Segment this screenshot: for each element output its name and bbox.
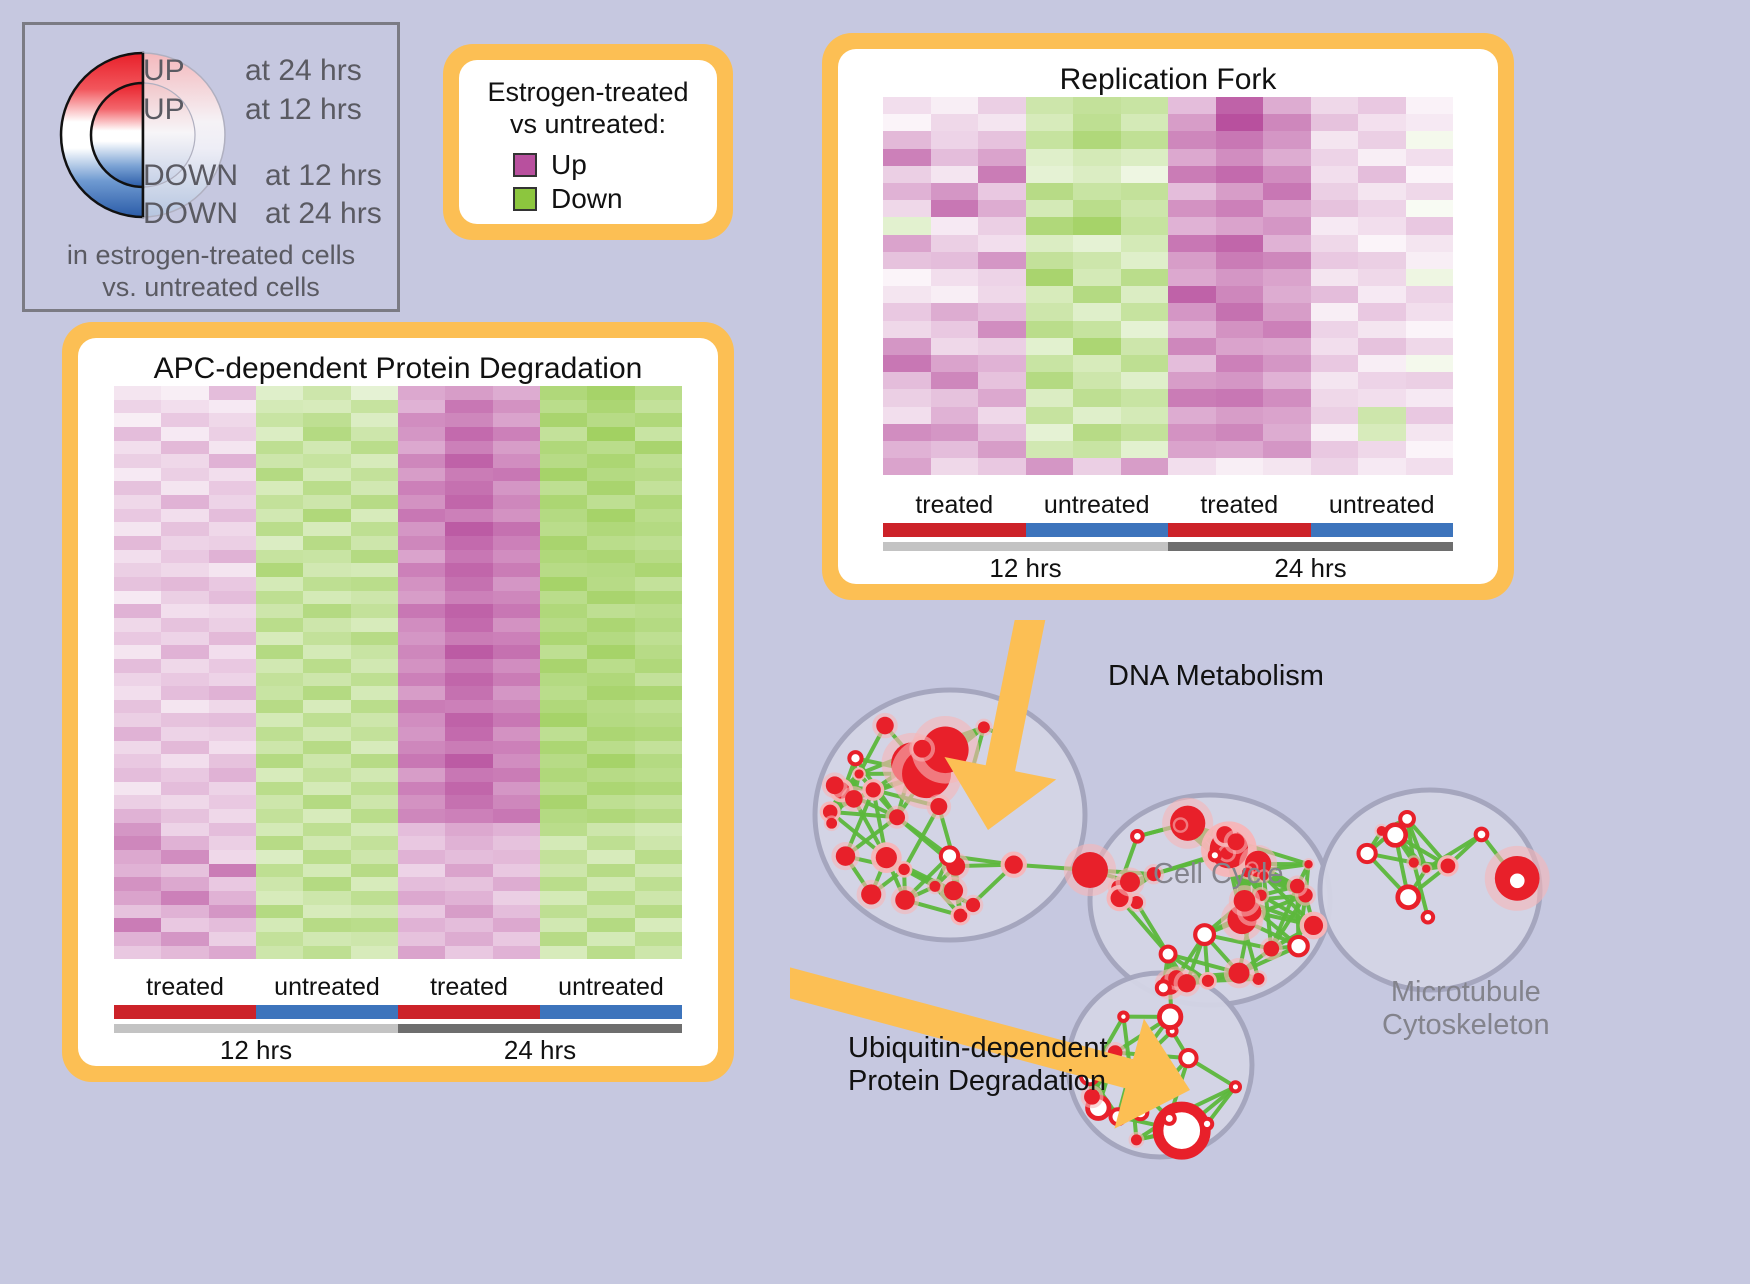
heatmap-cell — [1406, 321, 1454, 338]
heatmap-cell — [209, 768, 256, 782]
heatmap-cell — [1358, 389, 1406, 406]
heatmap-cell — [209, 850, 256, 864]
heatmap-cell — [540, 427, 587, 441]
heatmap-cell — [445, 686, 492, 700]
heatmap-cell — [1216, 269, 1264, 286]
heatmap-cell — [303, 713, 350, 727]
legend-title-line1: Estrogen-treated — [459, 76, 717, 108]
heatmap-cell — [445, 454, 492, 468]
heatmap-cell — [351, 618, 398, 632]
heatmap-cell — [635, 386, 682, 400]
heatmap-cell — [931, 338, 979, 355]
legend-title-line2: vs untreated: — [459, 108, 717, 140]
heatmap-cell — [114, 850, 161, 864]
heatmap-cell — [493, 795, 540, 809]
heatmap-cell — [587, 522, 634, 536]
heatmap-cell — [398, 632, 445, 646]
heatmap-cell — [256, 386, 303, 400]
heatmap-cell — [587, 741, 634, 755]
heatmap-cell — [209, 522, 256, 536]
legend-label-up: Up — [551, 149, 587, 181]
heatmap-cell — [587, 413, 634, 427]
heatmap-cell — [303, 659, 350, 673]
legend-panel: Estrogen-treated vs untreated: Up Down — [443, 44, 733, 240]
heatmap-cell — [351, 946, 398, 960]
heatmap-cell — [1311, 183, 1359, 200]
heatmap-cell — [883, 183, 931, 200]
heatmap-cell — [1406, 235, 1454, 252]
heatmap-cell — [303, 795, 350, 809]
network-node — [1064, 844, 1116, 896]
network-node — [1398, 887, 1419, 908]
heatmap-cell — [351, 591, 398, 605]
network-node — [1001, 851, 1027, 877]
heatmap-cell — [256, 727, 303, 741]
heatmap-cell — [1216, 252, 1264, 269]
heatmap-cell — [635, 782, 682, 796]
heatmap-cell — [256, 400, 303, 414]
heatmap-cell — [303, 768, 350, 782]
heatmap-cell — [256, 891, 303, 905]
heatmap-cell — [398, 877, 445, 891]
heatmap-cell — [256, 495, 303, 509]
heatmap-cell — [493, 727, 540, 741]
heatmap-replication-fork — [883, 97, 1453, 475]
heatmap-cell — [209, 713, 256, 727]
heatmap-cell — [978, 389, 1026, 406]
heatmap-cell — [161, 686, 208, 700]
heatmap-cell — [114, 577, 161, 591]
heatmap-cell — [161, 782, 208, 796]
heatmap-cell — [493, 891, 540, 905]
heatmap-cell — [1121, 97, 1169, 114]
legend-items: Up Down — [459, 149, 717, 215]
heatmap-cell — [445, 400, 492, 414]
heatmap-cell — [351, 645, 398, 659]
heatmap-cell — [493, 782, 540, 796]
heatmap-cell — [1358, 321, 1406, 338]
heatmap-cell — [303, 932, 350, 946]
heatmap-cell — [1073, 303, 1121, 320]
color-key-dir-0: UP — [143, 54, 185, 88]
heatmap-cell — [883, 217, 931, 234]
heatmap-cell — [540, 877, 587, 891]
heatmap-cell — [209, 441, 256, 455]
heatmap-cell — [1311, 355, 1359, 372]
heatmap-cell — [445, 632, 492, 646]
heatmap-cell — [445, 754, 492, 768]
color-key-dir-3: DOWN — [143, 197, 238, 231]
heatmap-cell — [635, 550, 682, 564]
heatmap-cell — [398, 823, 445, 837]
heatmap-cell — [303, 864, 350, 878]
heatmap-cell — [540, 673, 587, 687]
heatmap-cell — [1073, 149, 1121, 166]
heatmap-cell — [978, 407, 1026, 424]
heatmap-cell — [161, 577, 208, 591]
heatmap-cell — [161, 386, 208, 400]
heatmap-cell — [587, 946, 634, 960]
heatmap-cell — [161, 727, 208, 741]
heatmap-cell — [209, 400, 256, 414]
heatmap-cell — [398, 645, 445, 659]
axis-time-label-0: 12 hrs — [883, 553, 1168, 584]
heatmap-cell — [587, 932, 634, 946]
heatmap-cell — [931, 235, 979, 252]
heatmap-cell — [1358, 355, 1406, 372]
heatmap-cell — [398, 522, 445, 536]
network-node — [1260, 937, 1283, 960]
heatmap-cell — [1216, 183, 1264, 200]
heatmap-cell — [883, 131, 931, 148]
heatmap-cell — [1073, 286, 1121, 303]
heatmap-cell — [114, 550, 161, 564]
heatmap-cell — [635, 563, 682, 577]
heatmap-cell — [209, 864, 256, 878]
heatmap-cell — [303, 632, 350, 646]
heatmap-cell — [398, 659, 445, 673]
heatmap-cell — [540, 823, 587, 837]
heatmap-cell — [493, 850, 540, 864]
heatmap-cell — [1121, 407, 1169, 424]
heatmap-cell — [931, 407, 979, 424]
heatmap-cell — [883, 166, 931, 183]
heatmap-cell — [1358, 338, 1406, 355]
heatmap-cell — [256, 823, 303, 837]
heatmap-cell — [1026, 217, 1074, 234]
heatmap-cell — [114, 618, 161, 632]
heatmap-cell — [635, 795, 682, 809]
legend-item-up: Up — [513, 149, 717, 181]
network-node — [1287, 875, 1308, 896]
heatmap-cell — [1073, 131, 1121, 148]
heatmap-cell — [114, 727, 161, 741]
network-node — [1161, 947, 1176, 962]
heatmap-cell — [256, 782, 303, 796]
heatmap-cell — [303, 782, 350, 796]
heatmap-cell — [978, 458, 1026, 475]
heatmap-cell — [351, 454, 398, 468]
heatmap-cell — [398, 536, 445, 550]
heatmap-cell — [303, 550, 350, 564]
heatmap-cell — [303, 946, 350, 960]
heatmap-cell — [398, 686, 445, 700]
heatmap-cell — [635, 836, 682, 850]
heatmap-cell — [978, 183, 1026, 200]
heatmap-cell — [256, 905, 303, 919]
heatmap-cell — [883, 372, 931, 389]
heatmap-cell — [1358, 200, 1406, 217]
heatmap-cell — [1026, 252, 1074, 269]
heatmap-cell — [540, 536, 587, 550]
heatmap-cell — [493, 509, 540, 523]
heatmap-cell — [1026, 114, 1074, 131]
heatmap-cell — [114, 877, 161, 891]
heatmap-cell — [161, 454, 208, 468]
heatmap-cell — [1026, 389, 1074, 406]
heatmap-cell — [303, 891, 350, 905]
heatmap-cell — [493, 713, 540, 727]
heatmap-cell — [161, 918, 208, 932]
heatmap-cell — [303, 591, 350, 605]
heatmap-cell — [1311, 372, 1359, 389]
heatmap-cell — [493, 386, 540, 400]
heatmap-cell — [209, 741, 256, 755]
heatmap-cell — [351, 891, 398, 905]
heatmap-cell — [978, 217, 1026, 234]
heatmap-cell — [256, 481, 303, 495]
heatmap-cell — [635, 632, 682, 646]
network-node — [1132, 831, 1143, 842]
heatmap-cell — [1026, 200, 1074, 217]
heatmap-cell — [587, 782, 634, 796]
heatmap-cell — [303, 427, 350, 441]
heatmap-cell — [1358, 235, 1406, 252]
heatmap-cell — [303, 536, 350, 550]
heatmap-cell — [209, 481, 256, 495]
heatmap-cell — [493, 673, 540, 687]
heatmap-cell — [1406, 269, 1454, 286]
heatmap-cell — [1358, 441, 1406, 458]
heatmap-cell — [1073, 389, 1121, 406]
heatmap-cell — [1406, 458, 1454, 475]
heatmap-cell — [540, 836, 587, 850]
heatmap-cell — [1026, 303, 1074, 320]
heatmap-cell — [540, 645, 587, 659]
heatmap-cell — [1358, 372, 1406, 389]
heatmap-cell — [1121, 235, 1169, 252]
heatmap-cell — [635, 727, 682, 741]
network-node — [1400, 812, 1414, 826]
heatmap-cell — [1121, 217, 1169, 234]
heatmap-cell — [493, 823, 540, 837]
heatmap-cell — [303, 618, 350, 632]
heatmap-cell — [635, 509, 682, 523]
heatmap-cell — [351, 700, 398, 714]
heatmap-cell — [587, 850, 634, 864]
heatmap-cell — [114, 522, 161, 536]
heatmap-cell — [398, 400, 445, 414]
heatmap-cell — [351, 768, 398, 782]
heatmap-cell — [978, 166, 1026, 183]
heatmap-cell — [114, 946, 161, 960]
heatmap-cell — [161, 754, 208, 768]
heatmap-cell — [256, 836, 303, 850]
heatmap-cell — [445, 932, 492, 946]
heatmap-cell — [1263, 389, 1311, 406]
heatmap-cell — [1216, 458, 1264, 475]
heatmap-cell — [114, 386, 161, 400]
heatmap-cell — [114, 932, 161, 946]
heatmap-cell — [303, 823, 350, 837]
heatmap-cell — [209, 823, 256, 837]
heatmap-cell — [883, 338, 931, 355]
heatmap-cell — [209, 809, 256, 823]
heatmap-cell — [1358, 149, 1406, 166]
heatmap-cell — [978, 338, 1026, 355]
heatmap-cell — [445, 768, 492, 782]
heatmap-cell — [209, 645, 256, 659]
legend-swatch-up-icon — [513, 153, 537, 177]
heatmap-cell — [1121, 114, 1169, 131]
heatmap-cell — [587, 768, 634, 782]
heatmap-cell — [351, 413, 398, 427]
heatmap-cell — [256, 795, 303, 809]
heatmap-cell — [256, 918, 303, 932]
network-node — [831, 842, 859, 870]
heatmap-cell — [1311, 269, 1359, 286]
heatmap-cell — [635, 686, 682, 700]
heatmap-cell — [493, 591, 540, 605]
heatmap-cell — [303, 509, 350, 523]
heatmap-cell — [256, 645, 303, 659]
heatmap-cell — [540, 550, 587, 564]
heatmap-cell — [303, 686, 350, 700]
heatmap-cell — [114, 563, 161, 577]
heatmap-cell — [256, 741, 303, 755]
network-node — [896, 861, 913, 878]
heatmap-cell — [161, 509, 208, 523]
heatmap-cell — [256, 550, 303, 564]
heatmap-cell — [161, 932, 208, 946]
heatmap-cell — [161, 413, 208, 427]
heatmap-cell — [303, 850, 350, 864]
heatmap-cell — [351, 727, 398, 741]
heatmap-cell — [209, 932, 256, 946]
heatmap-cell — [1311, 321, 1359, 338]
heatmap-cell — [635, 454, 682, 468]
heatmap-cell — [587, 618, 634, 632]
network-node — [1128, 1132, 1144, 1148]
heatmap-cell — [351, 836, 398, 850]
heatmap-cell — [978, 269, 1026, 286]
heatmap-cell — [114, 713, 161, 727]
heatmap-cell — [635, 713, 682, 727]
heatmap-cell — [1026, 321, 1074, 338]
heatmap-cell — [256, 427, 303, 441]
heatmap-cell — [256, 604, 303, 618]
heatmap-cell — [161, 741, 208, 755]
network-node — [1508, 871, 1527, 890]
network-node — [1199, 972, 1217, 990]
network-node — [1420, 863, 1432, 875]
heatmap-cell — [978, 149, 1026, 166]
heatmap-cell — [1263, 355, 1311, 372]
heatmap-cell — [209, 686, 256, 700]
heatmap-cell — [1026, 97, 1074, 114]
heatmap-cell — [1358, 114, 1406, 131]
heatmap-cell — [445, 727, 492, 741]
heatmap-cell — [883, 252, 931, 269]
heatmap-cell — [114, 795, 161, 809]
heatmap-cell — [540, 468, 587, 482]
heatmap-cell — [883, 200, 931, 217]
heatmap-cell — [445, 441, 492, 455]
heatmap-cell — [587, 645, 634, 659]
heatmap-cell — [1263, 286, 1311, 303]
heatmap-cell — [1168, 235, 1216, 252]
heatmap-cell — [635, 809, 682, 823]
heatmap-cell — [978, 252, 1026, 269]
heatmap-cell — [445, 891, 492, 905]
heatmap-cell — [931, 183, 979, 200]
heatmap-cell — [1121, 303, 1169, 320]
heatmap-cell — [540, 686, 587, 700]
heatmap-cell — [161, 536, 208, 550]
heatmap-cell — [978, 131, 1026, 148]
heatmap-cell — [635, 700, 682, 714]
heatmap-cell — [540, 809, 587, 823]
heatmap-cell — [635, 522, 682, 536]
heatmap-cell — [398, 795, 445, 809]
heatmap-cell — [351, 427, 398, 441]
heatmap-cell — [256, 632, 303, 646]
heatmap-cell — [161, 591, 208, 605]
heatmap-cell — [493, 495, 540, 509]
heatmap-cell — [351, 673, 398, 687]
axis-replication: treateduntreatedtreateduntreated 12 hrs2… — [883, 491, 1453, 584]
heatmap-cell — [635, 604, 682, 618]
heatmap-cell — [1168, 441, 1216, 458]
heatmap-cell — [351, 754, 398, 768]
heatmap-cell — [1216, 149, 1264, 166]
network-label-microtubule-cytoskeleton: Microtubule Cytoskeleton — [1382, 976, 1550, 1042]
heatmap-cell — [1311, 97, 1359, 114]
network-node — [872, 713, 897, 738]
heatmap-cell — [351, 864, 398, 878]
heatmap-cell — [303, 727, 350, 741]
network-node — [1231, 1082, 1240, 1091]
axis-condition-swatch-0 — [114, 1005, 256, 1019]
heatmap-cell — [587, 877, 634, 891]
heatmap-cell — [1168, 424, 1216, 441]
heatmap-cell — [931, 355, 979, 372]
heatmap-cell — [351, 877, 398, 891]
heatmap-cell — [161, 495, 208, 509]
page-title-apc: APC-dependent Protein Degradation — [78, 338, 718, 386]
heatmap-cell — [256, 509, 303, 523]
color-key-time-3: at 24 hrs — [265, 197, 382, 231]
axis-time-bar — [883, 542, 1453, 551]
heatmap-cell — [540, 386, 587, 400]
heatmap-cell — [1073, 355, 1121, 372]
heatmap-cell — [445, 427, 492, 441]
axis-condition-label-0: treated — [883, 491, 1026, 520]
heatmap-cell — [114, 673, 161, 687]
heatmap-cell — [635, 591, 682, 605]
heatmap-cell — [114, 509, 161, 523]
network-node — [1174, 970, 1200, 996]
heatmap-cell — [445, 536, 492, 550]
heatmap-cell — [1358, 286, 1406, 303]
network-label-cell-cycle: Cell Cycle — [1153, 858, 1284, 891]
heatmap-cell — [587, 604, 634, 618]
heatmap-cell — [161, 468, 208, 482]
heatmap-cell — [1168, 372, 1216, 389]
heatmap-cell — [351, 686, 398, 700]
heatmap-cell — [351, 905, 398, 919]
heatmap-cell — [445, 659, 492, 673]
heatmap-cell — [587, 659, 634, 673]
heatmap-cell — [303, 905, 350, 919]
heatmap-cell — [1121, 131, 1169, 148]
heatmap-cell — [493, 946, 540, 960]
network-node — [1159, 1006, 1180, 1027]
heatmap-cell — [351, 932, 398, 946]
heatmap-cell — [209, 536, 256, 550]
heatmap-cell — [398, 918, 445, 932]
heatmap-cell — [493, 400, 540, 414]
